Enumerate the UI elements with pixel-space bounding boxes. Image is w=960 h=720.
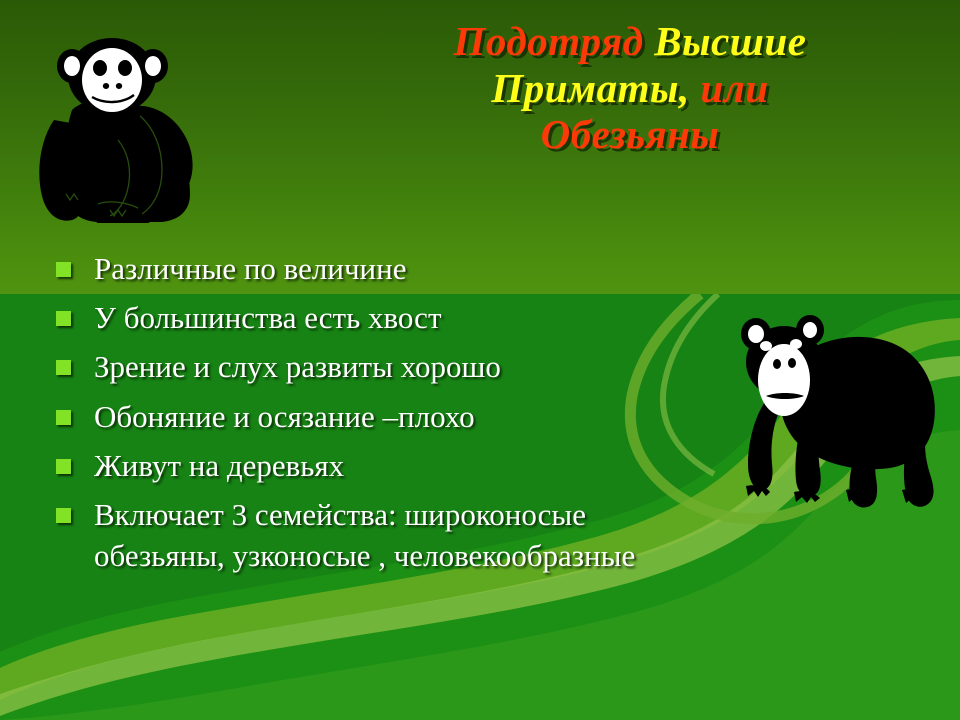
square-bullet-icon — [56, 508, 71, 523]
title-word-obezyany: Обезьяны — [541, 111, 720, 157]
square-bullet-icon — [56, 311, 71, 326]
bullet-text-line-2: обезьяны, узконосые , человекообразные — [94, 535, 892, 576]
slide-title: Подотряд Высшие Приматы, или Обезьяны — [330, 18, 930, 158]
title-line-2: Приматы, или — [330, 65, 930, 112]
square-bullet-icon — [56, 262, 71, 277]
title-line-1: Подотряд Высшие — [330, 18, 930, 65]
square-bullet-icon — [56, 360, 71, 375]
bullet-text: У большинства есть хвост — [94, 297, 892, 338]
bullet-text: Различные по величине — [94, 248, 892, 289]
list-item: Зрение и слух развиты хорошо — [52, 346, 892, 387]
bullet-text: Обоняние и осязание –плохо — [94, 396, 892, 437]
list-item: Включает 3 семейства: широконосые обезья… — [52, 494, 892, 576]
bullet-text: Живут на деревьях — [94, 445, 892, 486]
sitting-chimpanzee-illustration — [22, 24, 212, 224]
list-item: У большинства есть хвост — [52, 297, 892, 338]
title-word-vysshie: Высшие — [654, 18, 806, 64]
list-item: Различные по величине — [52, 248, 892, 289]
bullet-text-line-1: Включает 3 семейства: широконосые — [94, 497, 586, 532]
list-item: Обоняние и осязание –плохо — [52, 396, 892, 437]
title-word-primaty: Приматы, — [491, 65, 700, 111]
square-bullet-icon — [56, 410, 71, 425]
title-word-ili: или — [700, 65, 768, 111]
bullet-text: Зрение и слух развиты хорошо — [94, 346, 892, 387]
title-line-3: Обезьяны — [330, 111, 930, 158]
bullet-list: Различные по величине У большинства есть… — [52, 248, 892, 577]
bullet-text: Включает 3 семейства: широконосые обезья… — [94, 494, 892, 576]
list-item: Живут на деревьях — [52, 445, 892, 486]
title-word-podotryad: Подотряд — [454, 18, 655, 64]
presentation-slide: Подотряд Высшие Приматы, или Обезьяны Ра… — [0, 0, 960, 720]
square-bullet-icon — [56, 459, 71, 474]
